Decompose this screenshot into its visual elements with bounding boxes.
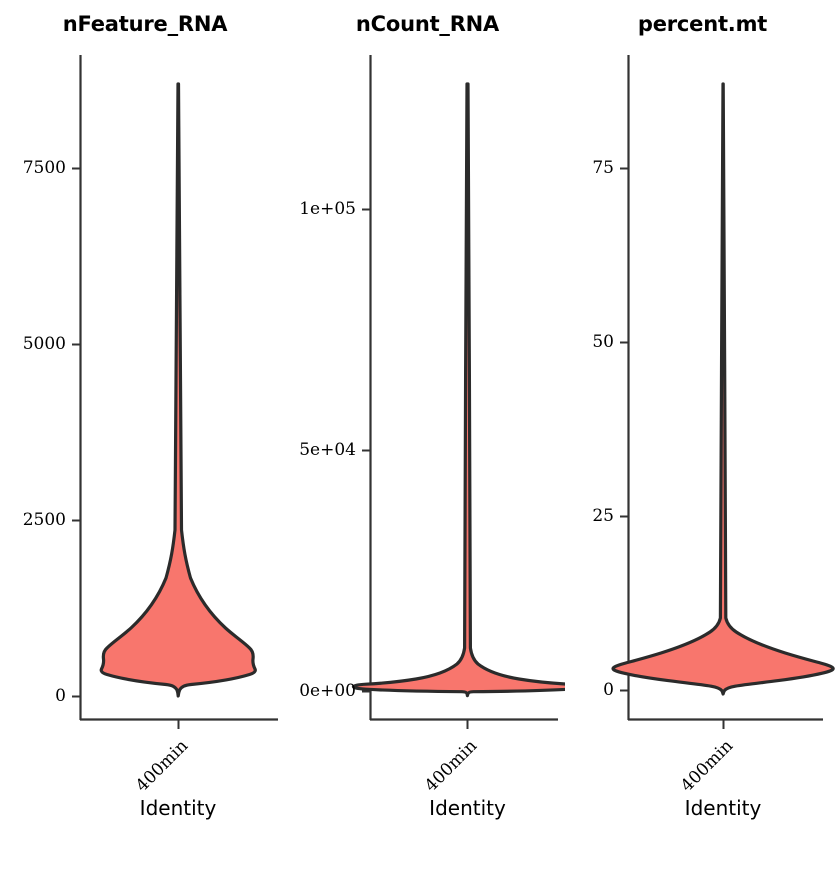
y-tick-label-1e05: 1e+05	[290, 199, 356, 219]
y-tick-label-2500: 2500	[0, 510, 66, 530]
y-tick-label-0: 0	[0, 686, 66, 706]
y-tick-label-7500: 7500	[0, 158, 66, 178]
y-tick-label-75: 75	[565, 158, 614, 178]
violin-shape-percent-mt	[613, 84, 833, 694]
y-tick-label-0: 0	[565, 680, 614, 700]
panel-ncount-rna: nCount_RNA 1e+05 5e+04 0e+00 400min Iden…	[290, 0, 565, 840]
y-tick-label-50: 50	[565, 332, 614, 352]
violin-plot-figure: nFeature_RNA 7500 5000 2500 0 400min Ide…	[0, 0, 840, 840]
violin-shape-nfeature-rna	[101, 84, 255, 696]
y-tick-label-25: 25	[565, 506, 614, 526]
x-axis-title-identity: Identity	[453, 796, 840, 820]
plot-area-ncount-rna	[290, 0, 565, 840]
plot-area-percent-mt	[565, 0, 840, 840]
y-tick-label-5e04: 5e+04	[290, 440, 356, 460]
y-tick-label-5000: 5000	[0, 334, 66, 354]
panel-nfeature-rna: nFeature_RNA 7500 5000 2500 0 400min Ide…	[0, 0, 290, 840]
violin-shape-ncount-rna	[353, 84, 565, 696]
plot-area-nfeature-rna	[0, 0, 290, 840]
y-tick-label-0e00: 0e+00	[290, 681, 356, 701]
panel-percent-mt: percent.mt 75 50 25 0 400min Identity	[565, 0, 840, 840]
